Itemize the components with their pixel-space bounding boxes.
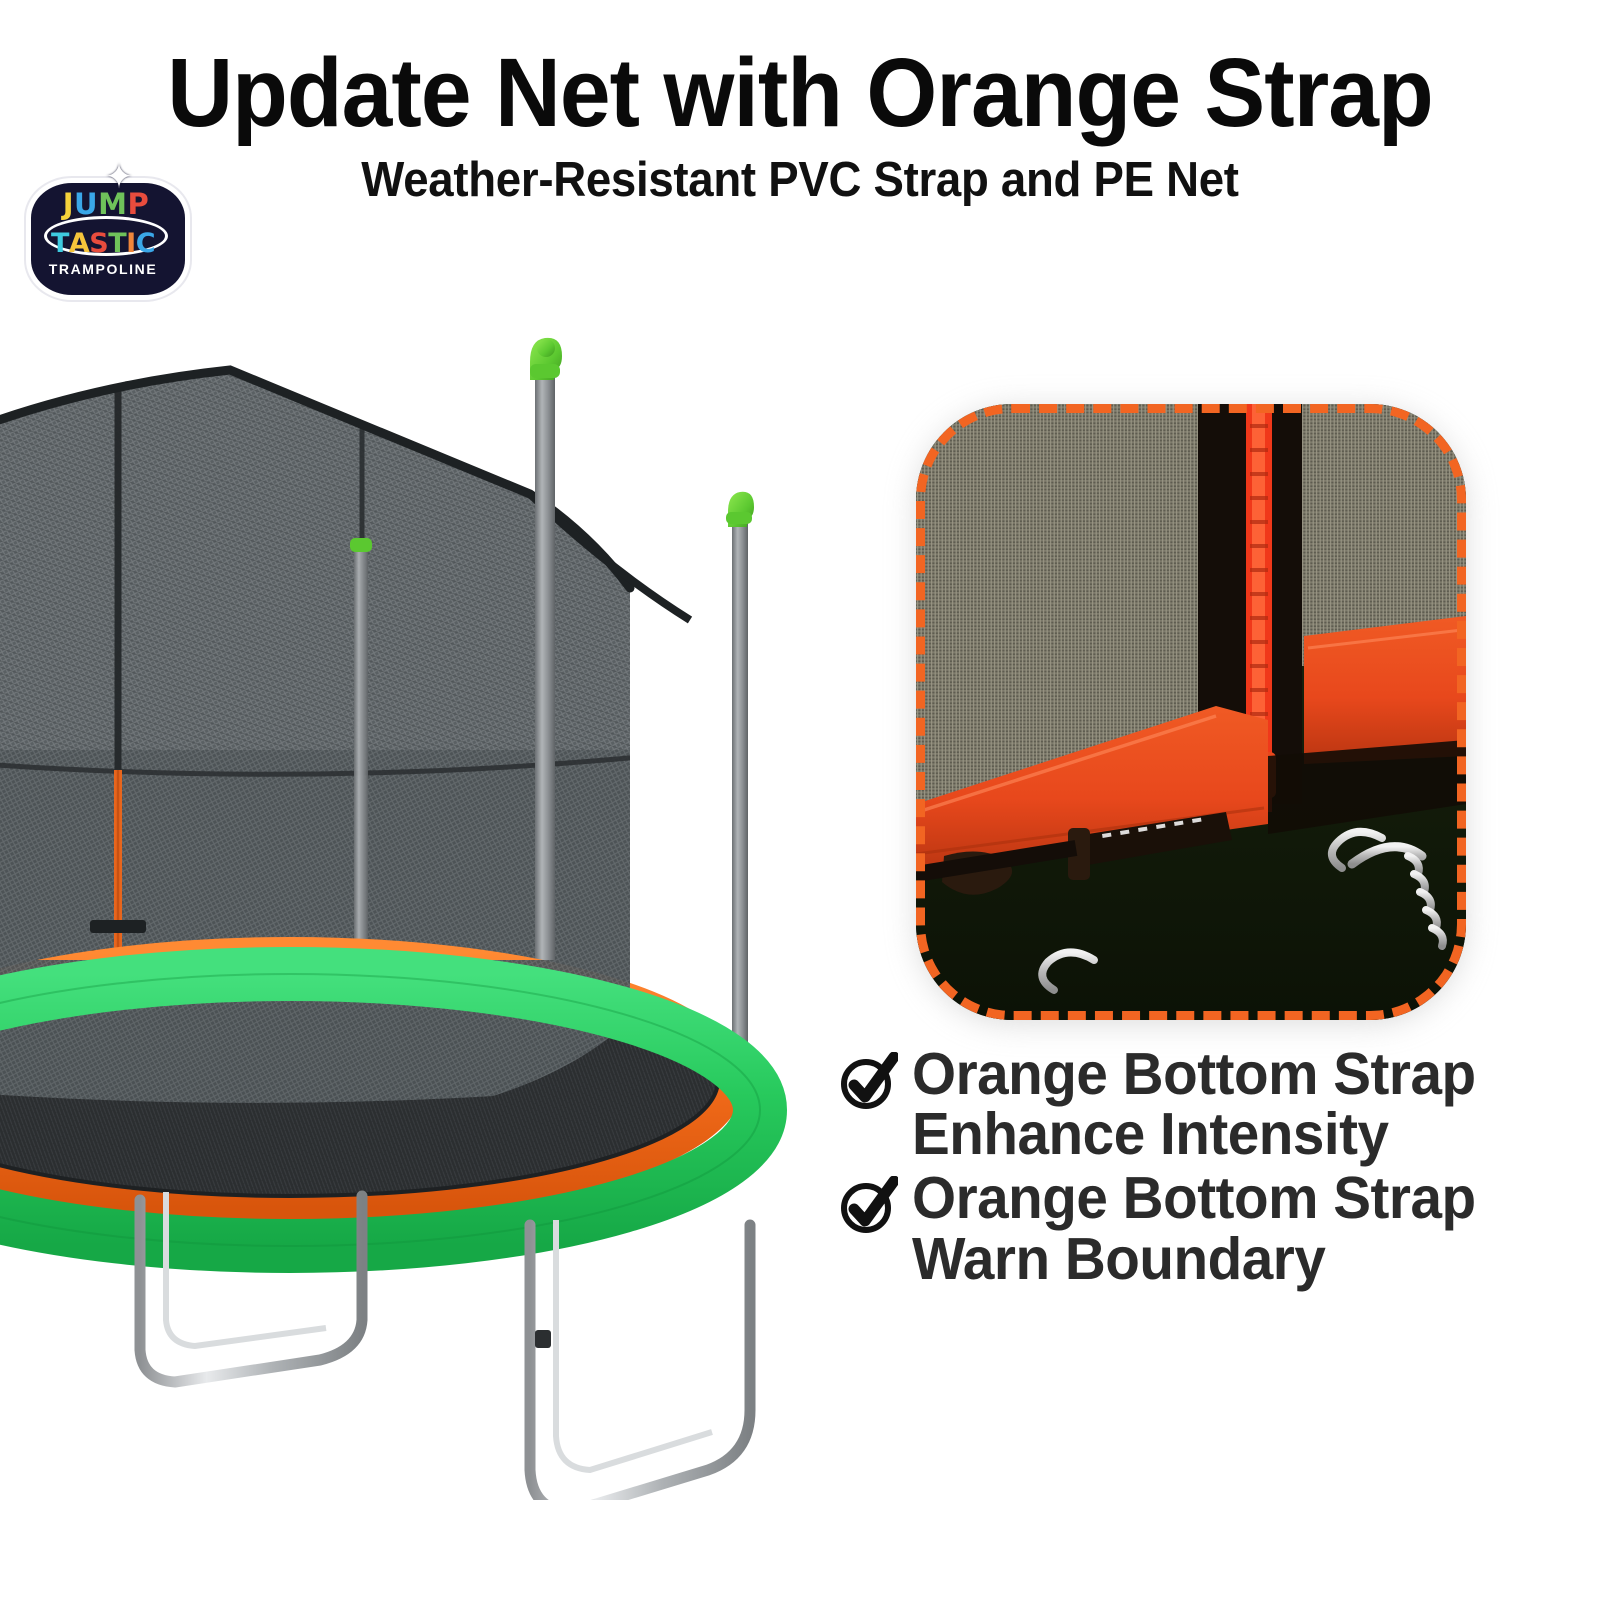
logo-letter-0: T bbox=[51, 230, 69, 257]
detail-photo-panel bbox=[908, 396, 1474, 1028]
check-circle-icon bbox=[838, 1052, 898, 1112]
leg-clamp bbox=[535, 1330, 551, 1348]
feature-text-block: Orange Bottom Strap Enhance Intensity bbox=[912, 1044, 1499, 1164]
feature-list: Orange Bottom Strap Enhance Intensity Or… bbox=[838, 1044, 1568, 1293]
logo-word-jump: JUMP bbox=[54, 190, 158, 219]
brand-logo: ✦ JUMP TASTIC TRAMPOLINE bbox=[18, 158, 188, 298]
logo-letter-1: A bbox=[69, 230, 89, 257]
logo-word-tastic: TASTIC bbox=[40, 230, 166, 257]
page-subtitle: Weather-Resistant PVC Strap and PE Net bbox=[56, 156, 1544, 205]
feature-line-2: Warn Boundary bbox=[912, 1229, 1476, 1289]
feature-item: Orange Bottom Strap Enhance Intensity bbox=[838, 1044, 1568, 1164]
logo-letter-4: I bbox=[126, 230, 136, 257]
feature-line-2: Enhance Intensity bbox=[912, 1104, 1476, 1164]
seam-band-right bbox=[1268, 404, 1302, 804]
trampoline-illustration bbox=[0, 320, 810, 1500]
feature-item: Orange Bottom Strap Warn Boundary bbox=[838, 1168, 1568, 1288]
enclosure-pole-2 bbox=[726, 492, 754, 1120]
feature-line-1: Orange Bottom Strap bbox=[912, 1044, 1476, 1104]
logo-word-trampoline: TRAMPOLINE bbox=[40, 262, 166, 276]
check-circle-icon bbox=[838, 1176, 898, 1236]
feature-text-block: Orange Bottom Strap Warn Boundary bbox=[912, 1168, 1499, 1288]
logo-letter-1: U bbox=[74, 190, 98, 219]
header: Update Net with Orange Strap Weather-Res… bbox=[0, 0, 1600, 310]
logo-letter-3: T bbox=[108, 230, 126, 257]
logo-letter-2: S bbox=[89, 230, 108, 257]
product-image-trampoline bbox=[0, 320, 810, 1500]
feature-line-1: Orange Bottom Strap bbox=[912, 1168, 1476, 1228]
logo-letter-0: J bbox=[63, 190, 74, 219]
detail-photo-image bbox=[916, 404, 1466, 1020]
strap-closeup-illustration bbox=[916, 404, 1466, 1020]
page-title: Update Net with Orange Strap bbox=[48, 44, 1552, 141]
logo-letter-5: C bbox=[136, 230, 155, 257]
logo-letter-3: P bbox=[127, 190, 149, 219]
logo-letter-2: M bbox=[98, 190, 127, 219]
